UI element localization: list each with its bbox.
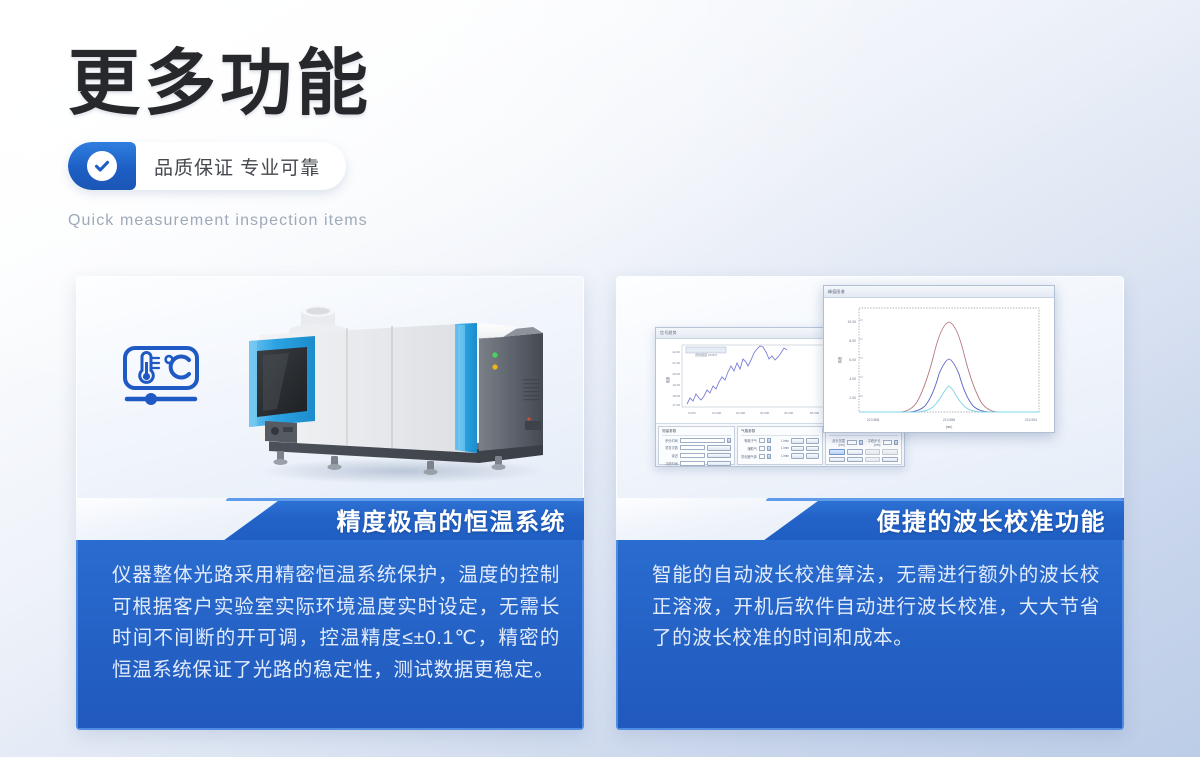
card-description: 智能的自动波长校准算法，无需进行额外的波长校正溶液，开机后软件自动进行波长校准，…	[652, 560, 1100, 655]
badge-mark	[68, 142, 136, 190]
clear-button[interactable]	[847, 457, 863, 463]
field-label: 辅助气	[741, 446, 757, 451]
set-button[interactable]	[707, 445, 732, 451]
card-visual-software: 信号趋势 谱线强度 2138.6 22.00 21.00	[616, 276, 1124, 498]
svg-text:0.000: 0.000	[688, 411, 696, 415]
window-title: 信号趋势	[660, 330, 677, 336]
button-row	[829, 449, 898, 455]
card-body: 智能的自动波长校准算法，无需进行额外的波长校正溶液，开机后软件自动进行波长校准，…	[616, 540, 1124, 730]
thermometer-celsius-icon	[121, 345, 201, 407]
set-button[interactable]	[707, 453, 732, 459]
gas-params-panel: 气路参数 等离子气 L/min 辅助气	[737, 426, 823, 465]
svg-text:17.00: 17.00	[672, 403, 680, 407]
badge-label: 品质保证 专业可靠	[136, 142, 346, 190]
panel-title: 气路参数	[741, 429, 819, 436]
record-button[interactable]	[865, 449, 881, 455]
feature-card-constant-temperature: 精度极高的恒温系统 仪器整体光路采用精密恒温系统保护，温度的控制可根据客户实验室…	[76, 276, 584, 730]
svg-text:20.000: 20.000	[736, 411, 746, 415]
measurement-params-panel: 测量参数 积分时间 重复次数	[658, 426, 735, 465]
card-title: 便捷的波长校准功能	[877, 502, 1107, 537]
button-row	[829, 457, 898, 463]
svg-text:8.00: 8.00	[849, 339, 856, 343]
save-button[interactable]	[829, 457, 845, 463]
svg-text:22.00: 22.00	[672, 350, 680, 354]
field-label: 等离子气	[741, 438, 757, 443]
quality-badge: 品质保证 专业可靠	[68, 142, 346, 190]
reset-button[interactable]	[882, 449, 898, 455]
card-body: 仪器整体光路采用精密恒温系统保护，温度的控制可根据客户实验室实际环境温度实时设定…	[76, 540, 584, 730]
spinner-icon[interactable]	[767, 446, 771, 451]
svg-text:20.00: 20.00	[672, 372, 680, 376]
repeat-count-input[interactable]	[680, 445, 705, 450]
set-button[interactable]	[806, 438, 819, 444]
svg-text:213.856: 213.856	[943, 418, 955, 422]
svg-text:21.00: 21.00	[672, 361, 680, 365]
field-label: 冲洗时间	[662, 461, 678, 466]
svg-text:10.00: 10.00	[848, 320, 857, 324]
set-button[interactable]	[707, 461, 732, 467]
plasma-gas-input[interactable]	[759, 438, 765, 443]
icp-spectrometer-image	[227, 293, 577, 493]
spinner-icon[interactable]	[727, 438, 731, 443]
export-button[interactable]	[865, 457, 881, 463]
page-subtitle: Quick measurement inspection items	[68, 212, 768, 230]
scan-button[interactable]	[847, 449, 863, 455]
peak-overlay-window: 峰值图谱 10.00 8.00 6.00 4.00	[823, 285, 1055, 433]
integration-time-input[interactable]	[680, 438, 725, 443]
spinner-icon[interactable]	[859, 440, 863, 445]
svg-text:50.000: 50.000	[810, 411, 820, 415]
poster-page: 更多功能 品质保证 专业可靠 Quick measurement inspect…	[0, 0, 1200, 757]
form-row: 辅助气 L/min	[741, 446, 819, 452]
svg-text:6.00: 6.00	[849, 358, 856, 362]
card-visual-instrument	[76, 276, 584, 498]
form-row: 积分时间	[662, 438, 731, 443]
svg-text:19.00: 19.00	[672, 383, 680, 387]
spinner-icon[interactable]	[767, 438, 771, 443]
peak-overlay-chart: 10.00 8.00 6.00 4.00 2.00	[824, 298, 1054, 432]
unit-label: L/min	[773, 454, 789, 458]
svg-text:18.00: 18.00	[672, 394, 680, 398]
field-label: 延迟	[662, 453, 678, 458]
card-description: 仪器整体光路采用精密恒温系统保护，温度的控制可根据客户实验室实际环境温度实时设定…	[112, 560, 560, 686]
spinner-icon[interactable]	[767, 454, 771, 459]
window-title: 峰值图谱	[828, 289, 845, 295]
card-title-band: 便捷的波长校准功能	[616, 498, 1124, 540]
card-title-band: 精度极高的恒温系统	[76, 498, 584, 540]
form-row: 波长范围(nm) 寻峰步长(nm)	[829, 438, 898, 447]
wavelength-range-input[interactable]	[847, 440, 857, 445]
field-label: 雾化器气体	[741, 454, 757, 459]
card-title: 精度极高的恒温系统	[337, 502, 567, 537]
svg-text:(nm): (nm)	[946, 425, 953, 429]
nebulizer-gas-input[interactable]	[759, 454, 765, 459]
set-button[interactable]	[806, 453, 819, 459]
svg-text:213.808: 213.808	[867, 418, 879, 422]
set-button[interactable]	[806, 446, 819, 452]
svg-text:强度: 强度	[837, 356, 842, 363]
svg-text:30.000: 30.000	[760, 411, 770, 415]
auxiliary-gas-input[interactable]	[759, 446, 765, 451]
field-label: 波长范围(nm)	[829, 438, 845, 447]
peak-step-input[interactable]	[883, 440, 893, 445]
svg-text:40.000: 40.000	[784, 411, 794, 415]
confirm-button[interactable]	[882, 457, 898, 463]
field-label: 重复次数	[662, 445, 678, 450]
form-row: 等离子气 L/min	[741, 438, 819, 444]
rinse-time-input[interactable]	[680, 461, 705, 466]
form-row: 延迟	[662, 453, 731, 459]
read-button[interactable]	[791, 453, 804, 459]
feature-cards: 精度极高的恒温系统 仪器整体光路采用精密恒温系统保护，温度的控制可根据客户实验室…	[76, 276, 1124, 730]
read-button[interactable]	[791, 438, 804, 444]
form-row: 重复次数	[662, 445, 731, 451]
svg-text:213.904: 213.904	[1025, 418, 1037, 422]
panel-title: 测量参数	[662, 429, 731, 436]
field-label: 寻峰步长(nm)	[865, 438, 881, 447]
header: 更多功能 品质保证 专业可靠 Quick measurement inspect…	[68, 48, 768, 230]
feature-card-wavelength-calibration: 信号趋势 谱线强度 2138.6 22.00 21.00	[616, 276, 1124, 730]
page-title: 更多功能	[68, 48, 768, 120]
form-row: 冲洗时间	[662, 461, 731, 467]
svg-text:2.00: 2.00	[849, 396, 856, 400]
spinner-icon[interactable]	[894, 440, 898, 445]
svg-text:10.000: 10.000	[712, 411, 722, 415]
unit-label: L/min	[773, 446, 789, 450]
delay-input[interactable]	[680, 453, 705, 458]
form-row: 雾化器气体 L/min	[741, 453, 819, 459]
svg-text:谱线强度 2138.6: 谱线强度 2138.6	[695, 352, 717, 357]
window-titlebar: 峰值图谱	[824, 286, 1054, 298]
check-circle-icon	[87, 151, 117, 181]
svg-text:强度: 强度	[665, 376, 670, 383]
svg-text:4.00: 4.00	[849, 377, 856, 381]
read-button[interactable]	[791, 446, 804, 452]
unit-label: L/min	[773, 439, 789, 443]
field-label: 积分时间	[662, 438, 678, 443]
calibrate-button[interactable]	[829, 449, 845, 455]
